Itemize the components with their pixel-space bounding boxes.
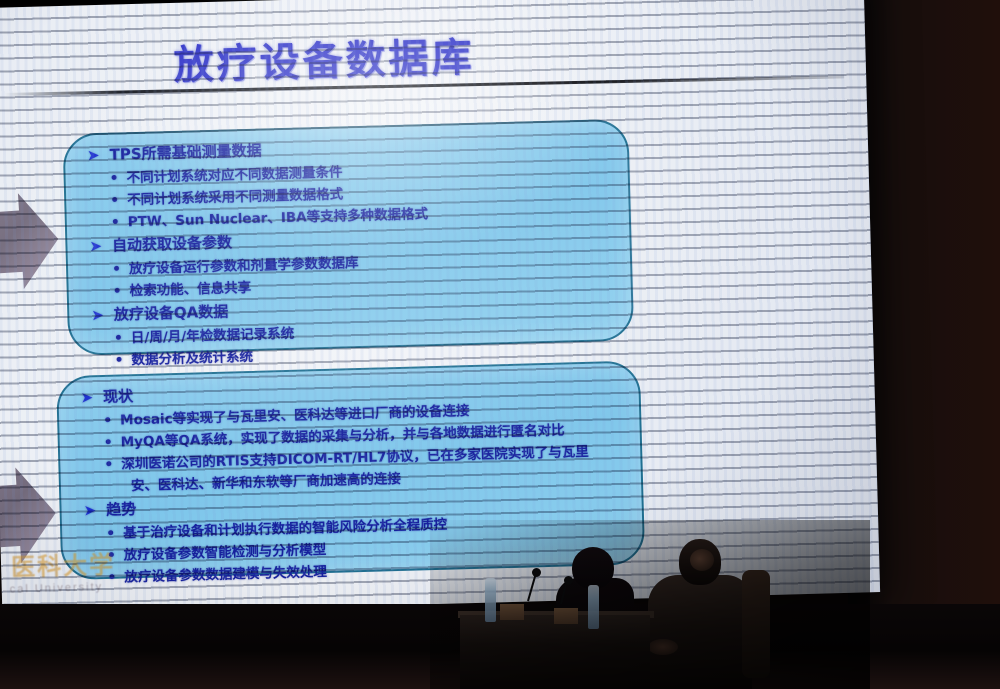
presentation-photo: 放疗设备数据库 ➤TPS所需基础测量数据•不同计划系统对应不同数据测量条件•不同… [0,0,1000,689]
dot-bullet-icon: • [112,262,121,276]
content-box-upper: ➤TPS所需基础测量数据•不同计划系统对应不同数据测量条件•不同计划系统采用不同… [62,119,634,356]
projection-screen: 放疗设备数据库 ➤TPS所需基础测量数据•不同计划系统对应不同数据测量条件•不同… [0,0,880,616]
dot-bullet-icon: • [111,215,120,229]
person-right-hand [648,639,678,655]
bullet-text: 数据分析及统计系统 [131,346,253,371]
person-right-face [690,549,714,571]
watermark-text: cal University [10,581,104,596]
chevron-bullet-icon: ➤ [80,385,93,410]
bullet-text: 放疗设备QA数据 [114,300,229,328]
bullet-text: 日/周/月/年检数据记录系统 [131,323,295,349]
bullet-text: 检索功能、信息共享 [129,277,251,302]
dot-bullet-icon: • [109,171,118,185]
slide-content: 放疗设备数据库 ➤TPS所需基础测量数据•不同计划系统对应不同数据测量条件•不同… [0,0,880,616]
slide-title: 放疗设备数据库 [173,25,475,91]
chair [742,570,770,678]
person-left-head [572,547,614,589]
panel-table [460,615,650,689]
bullet-list-upper: ➤TPS所需基础测量数据•不同计划系统对应不同数据测量条件•不同计划系统采用不同… [64,121,632,354]
water-bottle [485,578,496,622]
water-bottle [588,585,599,629]
name-placard [500,604,524,620]
dot-bullet-icon: • [104,436,113,450]
bullet-text: 趋势 [106,497,137,523]
watermark-logo: 医科大学 [11,545,116,583]
dot-bullet-icon: • [103,414,112,428]
chevron-bullet-icon: ➤ [91,303,104,328]
chevron-bullet-icon: ➤ [83,498,96,523]
dot-bullet-icon: • [114,353,123,367]
bullet-text: 自动获取设备参数 [112,230,233,258]
microphone-head-icon [532,568,541,577]
dot-bullet-icon: • [114,331,123,345]
dot-bullet-icon: • [110,193,119,207]
microphone-head-icon [564,576,573,585]
chevron-bullet-icon: ➤ [89,234,102,259]
dot-bullet-icon: • [106,527,115,541]
university-watermark: 医科大学 cal University [7,542,219,610]
chevron-bullet-icon: ➤ [87,143,100,168]
name-placard [554,608,578,624]
decorative-arrow-icon [0,191,61,291]
person-right-body [648,575,752,689]
dot-bullet-icon: • [113,284,122,298]
dot-bullet-icon: • [104,458,113,472]
bullet-text: 现状 [103,384,134,410]
